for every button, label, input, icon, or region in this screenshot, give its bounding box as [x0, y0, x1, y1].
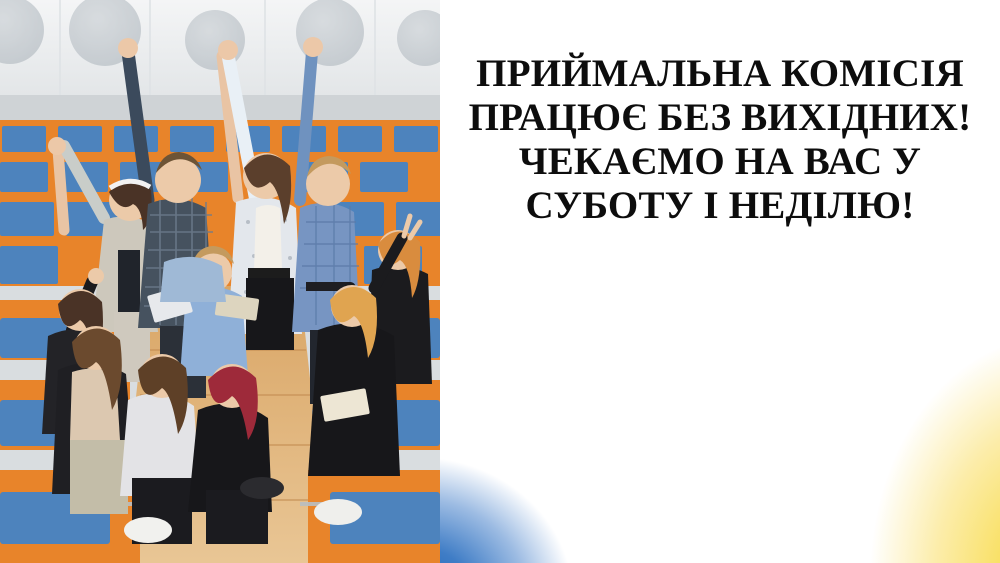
message-panel: ПРИЙМАЛЬНА КОМІСІЯ ПРАЦЮЄ БЕЗ ВИХІДНИХ! …: [440, 0, 1000, 563]
poster-root: ПРИЙМАЛЬНА КОМІСІЯ ПРАЦЮЄ БЕЗ ВИХІДНИХ! …: [0, 0, 1000, 563]
page-title: ПРИЙМАЛЬНА КОМІСІЯ ПРАЦЮЄ БЕЗ ВИХІДНИХ! …: [440, 52, 1000, 228]
yellow-gradient-accent: [700, 233, 1000, 563]
students-photo: [0, 0, 440, 563]
blue-gradient-accent: [440, 333, 670, 563]
